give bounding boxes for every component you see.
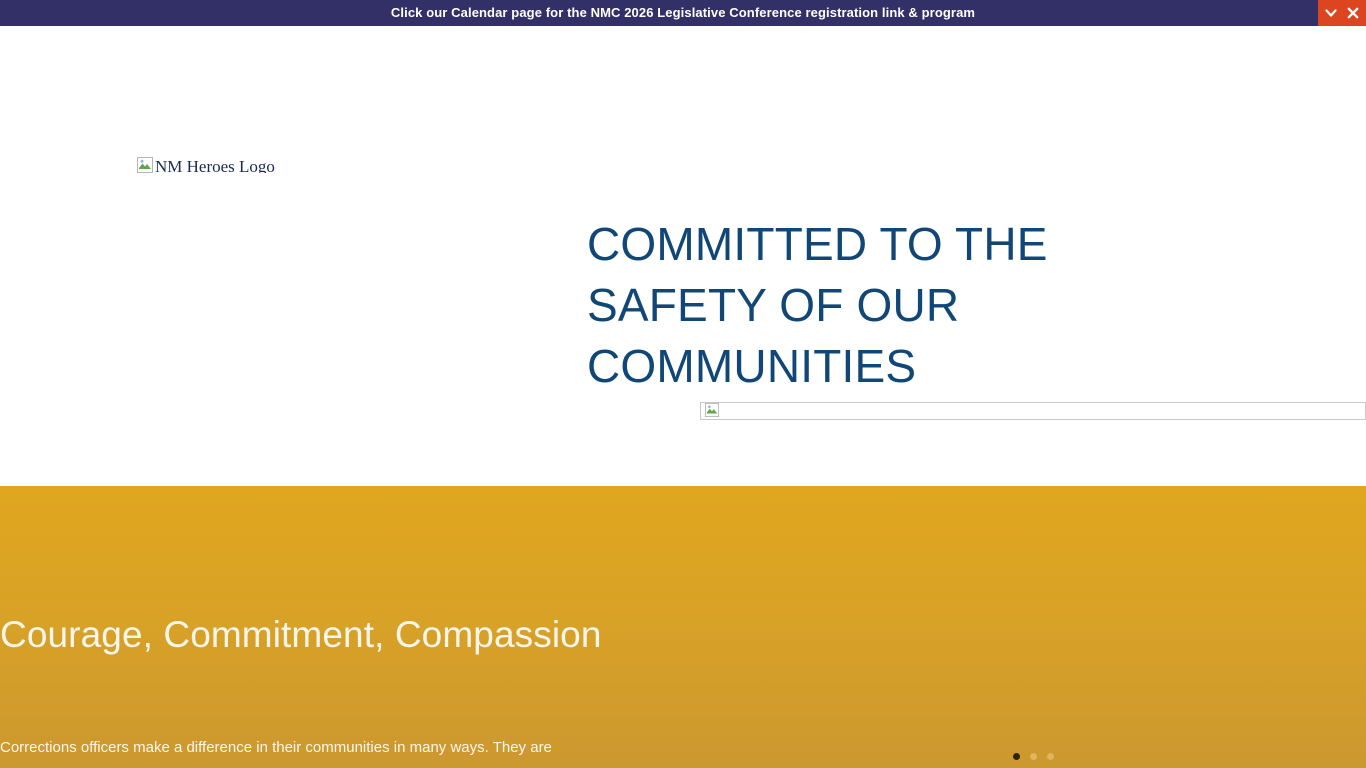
carousel-dot-1[interactable] — [1013, 753, 1020, 760]
announcement-message[interactable]: Click our Calendar page for the NMC 2026… — [391, 0, 975, 26]
hero-section: NM Heroes Logo COMMITTED TO THE SAFETY O… — [0, 26, 1366, 486]
broken-image-icon — [705, 403, 721, 419]
announcement-bar: Click our Calendar page for the NMC 2026… — [0, 0, 1366, 26]
broken-image-placeholder: NM Heroes Logo — [137, 157, 275, 173]
carousel-body-text: Corrections officers make a difference i… — [0, 735, 700, 760]
carousel-pagination[interactable] — [1013, 753, 1054, 760]
carousel-dot-2[interactable] — [1030, 753, 1037, 760]
site-logo[interactable]: NM Heroes Logo — [137, 151, 275, 173]
hero-banner-image[interactable] — [700, 402, 1366, 420]
logo-alt-text: NM Heroes Logo — [155, 157, 275, 173]
carousel-dot-3[interactable] — [1047, 753, 1054, 760]
page-title: COMMITTED TO THE SAFETY OF OUR COMMUNITI… — [587, 214, 1187, 397]
close-icon[interactable] — [1343, 3, 1363, 23]
broken-image-icon — [137, 157, 153, 173]
announcement-controls[interactable] — [1318, 0, 1366, 26]
chevron-down-icon[interactable] — [1321, 3, 1341, 23]
carousel-heading: Courage, Commitment, Compassion — [0, 610, 760, 660]
